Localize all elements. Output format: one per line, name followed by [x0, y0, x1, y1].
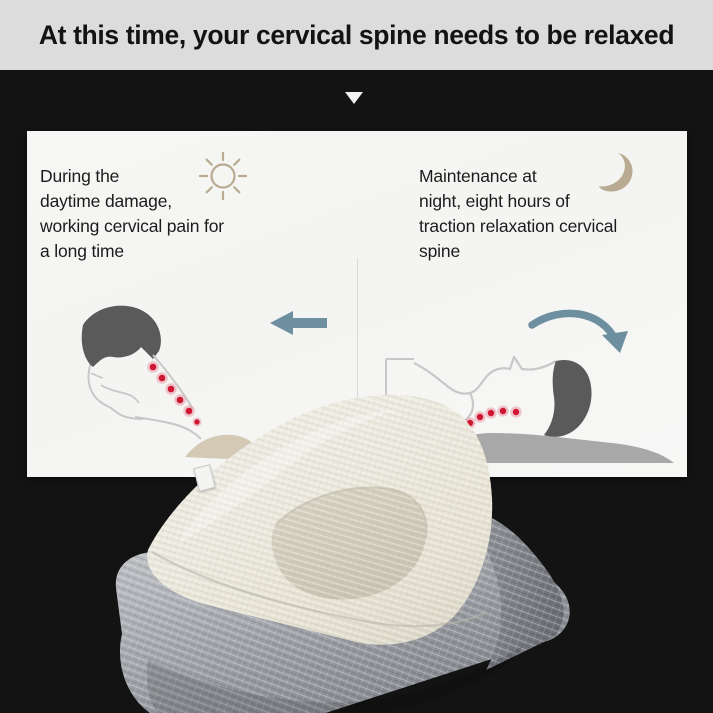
sun-icon	[196, 149, 250, 203]
left-arrow-icon	[270, 311, 327, 335]
header-banner: At this time, your cervical spine needs …	[0, 0, 713, 70]
moon-icon	[591, 149, 639, 197]
pillow-illustration	[108, 392, 608, 713]
chevron-down-icon	[345, 92, 363, 104]
nighttime-description: Maintenance at night, eight hours of tra…	[419, 164, 687, 264]
curved-arrow-icon	[532, 313, 628, 353]
promo-image-stage: At this time, your cervical spine needs …	[0, 0, 713, 713]
daytime-description: During the daytime damage, working cervi…	[40, 164, 340, 264]
cervical-contour-pillow	[108, 392, 608, 713]
page-title: At this time, your cervical spine needs …	[39, 20, 674, 51]
